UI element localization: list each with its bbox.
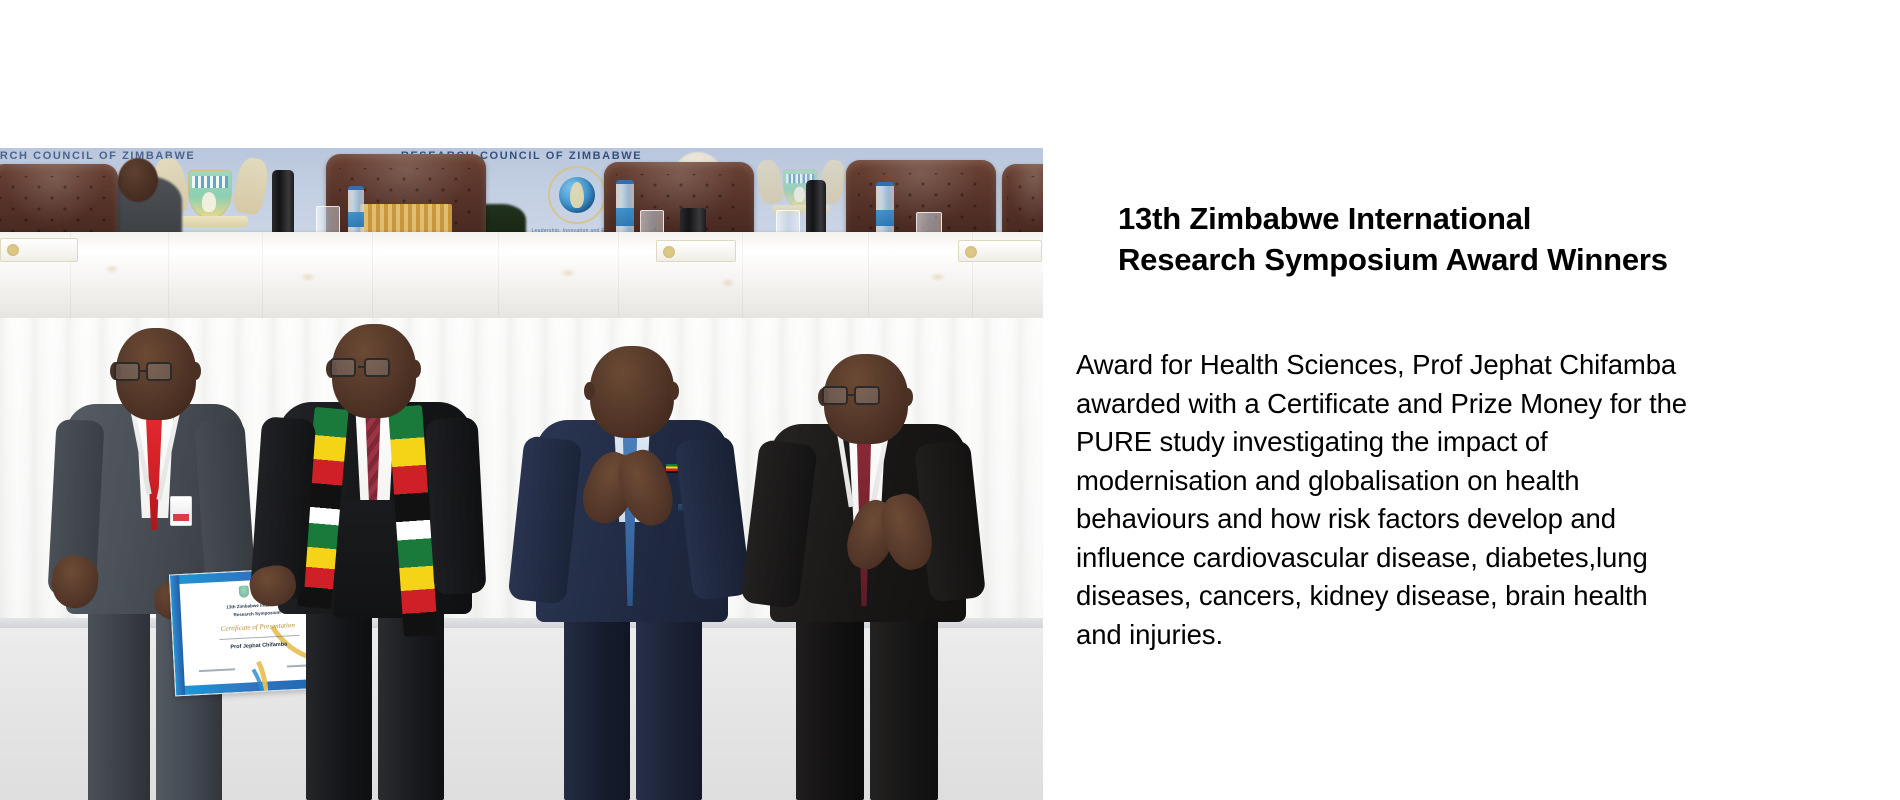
person-presenter xyxy=(262,320,502,800)
award-description-text: Award for Health Sciences, Prof Jephat C… xyxy=(1076,346,1900,654)
head-table-cloth xyxy=(0,232,1043,318)
text-panel: 13th Zimbabwe International Research Sym… xyxy=(1043,0,1900,800)
person-guest-navy xyxy=(516,346,756,800)
presenter-arm-right xyxy=(425,417,486,595)
person-guest-dark xyxy=(752,354,992,800)
certificate-coat-of-arms-icon xyxy=(239,585,250,598)
stage-area: 13th Zimbabwe International Research Sym… xyxy=(0,318,1043,800)
guest-navy-head xyxy=(590,346,674,438)
thermos-flask xyxy=(806,180,826,240)
award-ceremony-photo: RESEARCH COUNCIL OF ZIMBABWE RESEARCH CO… xyxy=(0,148,1043,800)
page-title: 13th Zimbabwe International Research Sym… xyxy=(1118,198,1898,280)
head-table-chair xyxy=(0,164,118,240)
awardee-arm-right xyxy=(194,418,256,589)
zimbabwe-coat-of-arms-icon-secondary xyxy=(755,157,847,219)
name-plate xyxy=(0,238,78,262)
thermos-flask xyxy=(272,170,294,240)
seated-dignitary-left-head xyxy=(118,158,158,202)
flag-lapel-pin-icon xyxy=(666,464,678,473)
name-plate xyxy=(958,240,1042,262)
awardee-glasses-icon xyxy=(112,362,202,384)
presenter-glasses-icon xyxy=(328,358,422,380)
slide-root: RESEARCH COUNCIL OF ZIMBABWE RESEARCH CO… xyxy=(0,0,1900,800)
name-plate xyxy=(656,240,736,262)
guest-dark-glasses-icon xyxy=(820,386,912,408)
research-council-globe-icon xyxy=(548,166,606,224)
stage-backdrop: RESEARCH COUNCIL OF ZIMBABWE RESEARCH CO… xyxy=(0,148,1043,240)
head-table-chair xyxy=(1002,164,1043,240)
water-bottle xyxy=(616,180,634,240)
awardee-name-badge xyxy=(170,496,192,526)
